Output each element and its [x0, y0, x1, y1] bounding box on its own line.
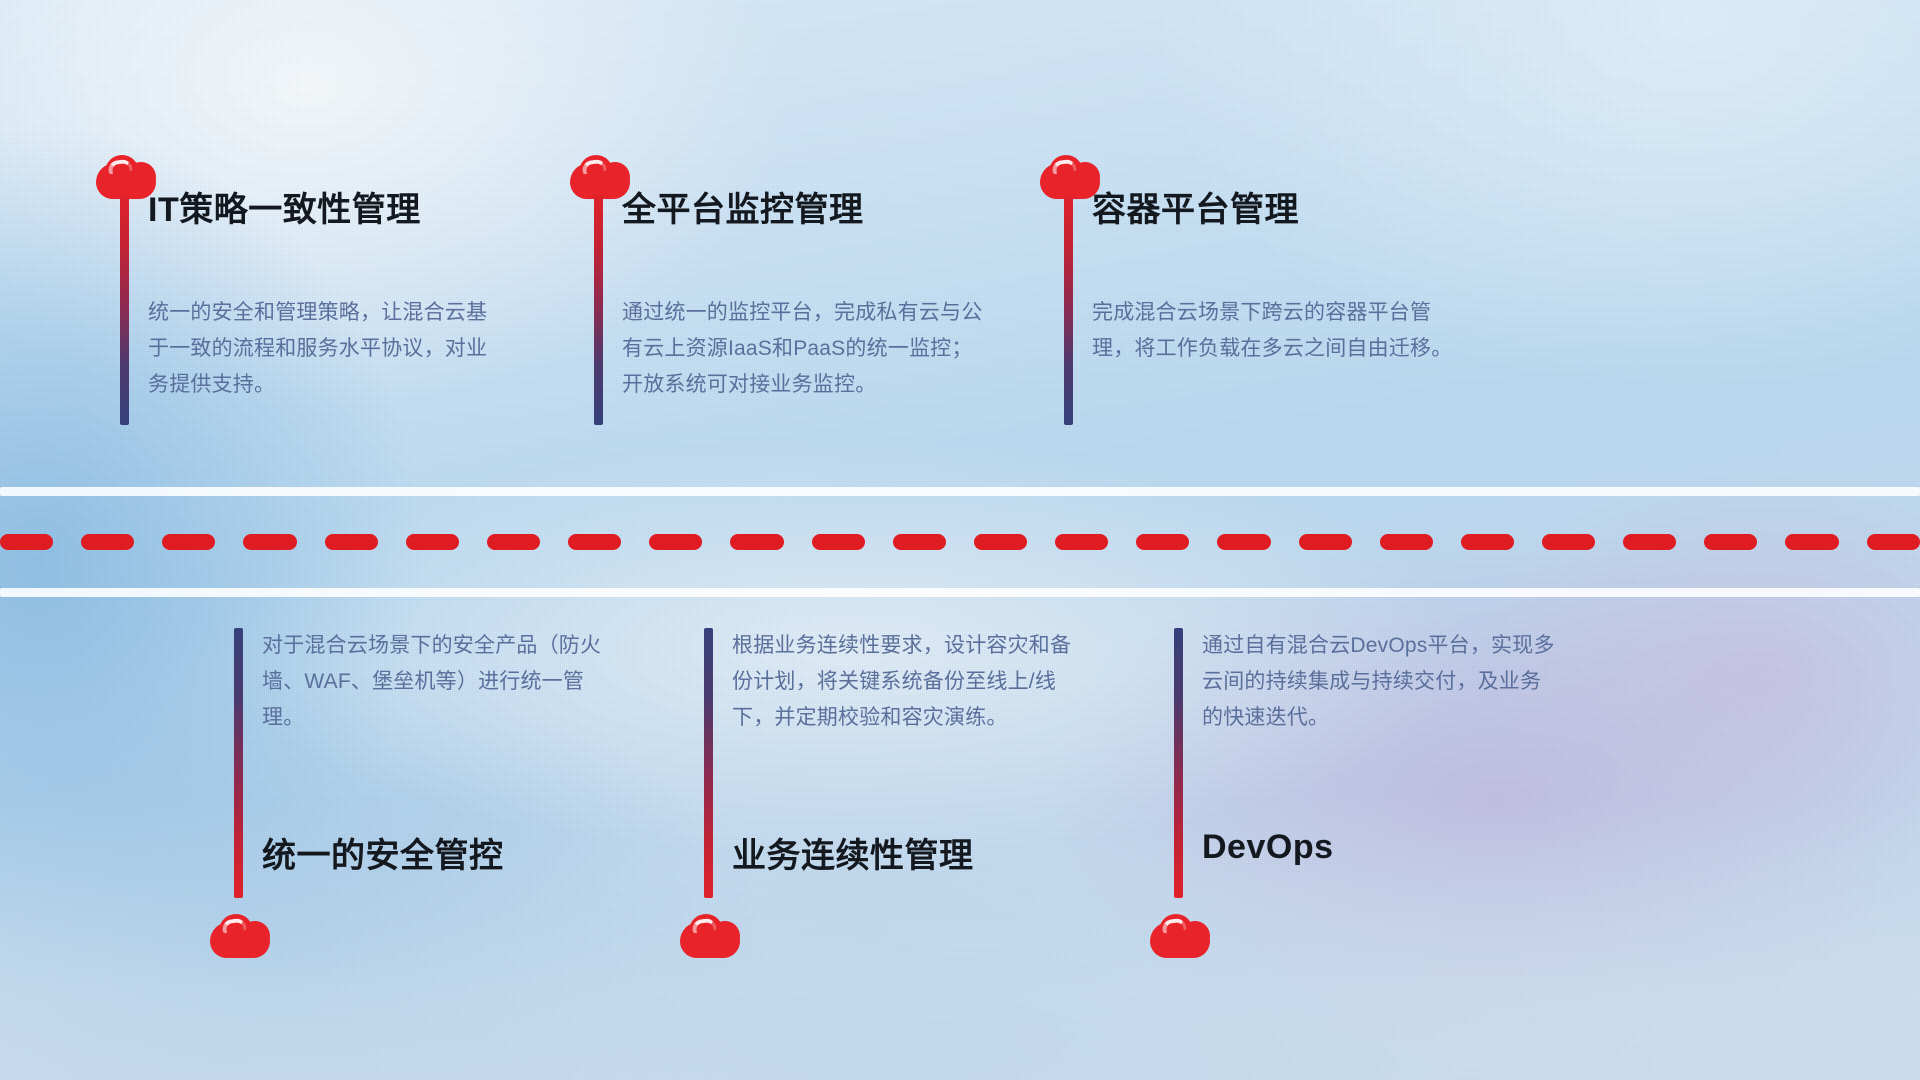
- cloud-icon: [570, 155, 630, 199]
- feature-description: 根据业务连续性要求，设计容灾和备份计划，将关键系统备份至线上/线下，并定期校验和…: [732, 628, 1092, 736]
- feature-title: 容器平台管理: [1092, 182, 1299, 231]
- divider-dash: [1217, 534, 1270, 550]
- divider-dash: [487, 534, 540, 550]
- divider-band: [0, 487, 1920, 597]
- feature-title: 全平台监控管理: [622, 182, 864, 231]
- cloud-icon: [1150, 914, 1210, 958]
- divider-dash: [1136, 534, 1189, 550]
- feature-description: 通过统一的监控平台，完成私有云与公有云上资源IaaS和PaaS的统一监控；开放系…: [622, 295, 984, 403]
- cloud-icon: [1040, 155, 1100, 199]
- feature-description: 统一的安全和管理策略，让混合云基于一致的流程和服务水平协议，对业务提供支持。: [148, 295, 504, 403]
- divider-dash: [1055, 534, 1108, 550]
- divider-dash: [0, 534, 53, 550]
- connector-bar: [120, 195, 129, 425]
- connector-bar: [1064, 195, 1073, 425]
- divider-dash: [81, 534, 134, 550]
- divider-dash: [1785, 534, 1838, 550]
- divider-dash: [1461, 534, 1514, 550]
- divider-dash: [1867, 534, 1920, 550]
- divider-dash: [730, 534, 783, 550]
- feature-title: 统一的安全管控: [262, 828, 504, 877]
- divider-dash: [162, 534, 215, 550]
- divider-rule-bottom: [0, 588, 1920, 597]
- connector-bar: [704, 628, 713, 898]
- divider-dash: [893, 534, 946, 550]
- divider-rule-top: [0, 487, 1920, 496]
- feature-description: 对于混合云场景下的安全产品（防火墙、WAF、堡垒机等）进行统一管理。: [262, 628, 622, 736]
- cloud-icon: [96, 155, 156, 199]
- divider-dash: [243, 534, 296, 550]
- divider-dash: [812, 534, 865, 550]
- feature-title: DevOps: [1202, 828, 1334, 867]
- divider-dash: [406, 534, 459, 550]
- divider-dashed-line: [0, 534, 1920, 550]
- feature-title: IT策略一致性管理: [148, 182, 421, 231]
- divider-dash: [325, 534, 378, 550]
- divider-dash: [1542, 534, 1595, 550]
- divider-dash: [1380, 534, 1433, 550]
- divider-dash: [974, 534, 1027, 550]
- divider-dash: [649, 534, 702, 550]
- cloud-icon: [210, 914, 270, 958]
- connector-bar: [234, 628, 243, 898]
- feature-description: 完成混合云场景下跨云的容器平台管理，将工作负载在多云之间自由迁移。: [1092, 295, 1454, 367]
- divider-dash: [1704, 534, 1757, 550]
- divider-dash: [1623, 534, 1676, 550]
- connector-bar: [1174, 628, 1183, 898]
- cloud-icon: [680, 914, 740, 958]
- feature-description: 通过自有混合云DevOps平台，实现多云间的持续集成与持续交付，及业务的快速迭代…: [1202, 628, 1562, 736]
- feature-title: 业务连续性管理: [732, 828, 974, 877]
- divider-dash: [1299, 534, 1352, 550]
- divider-dash: [568, 534, 621, 550]
- connector-bar: [594, 195, 603, 425]
